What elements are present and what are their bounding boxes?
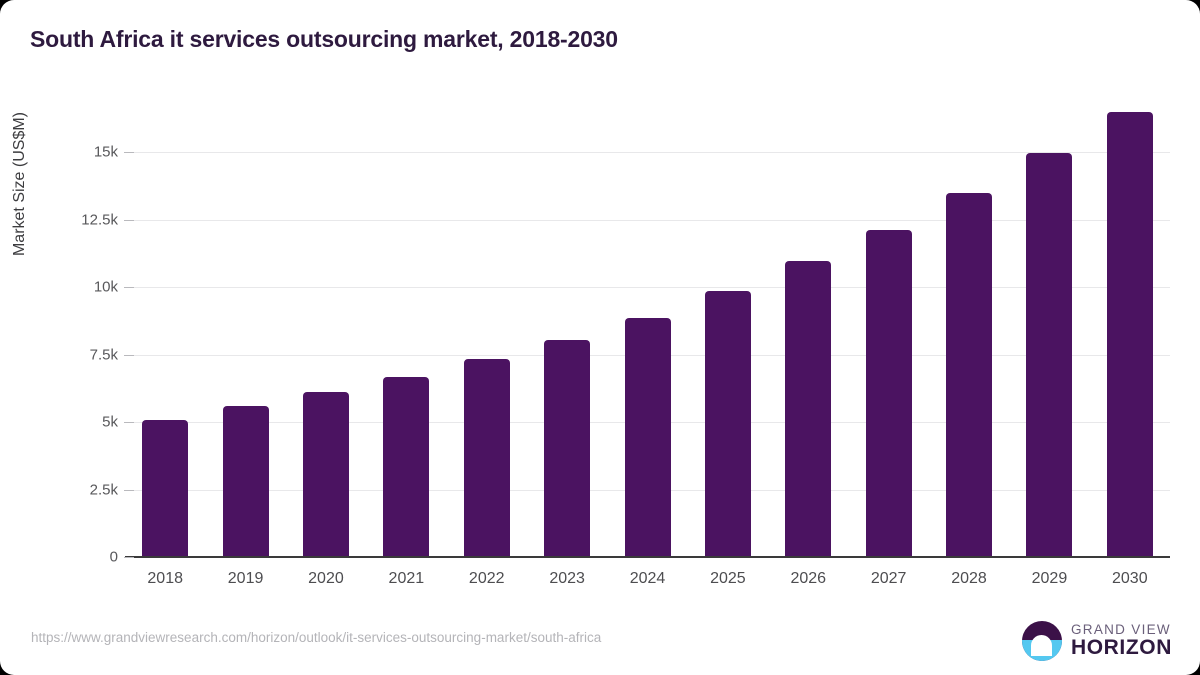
logo-product-name: HORIZON: [1071, 637, 1172, 659]
chart-card: South Africa it services outsourcing mar…: [0, 0, 1200, 675]
x-tick-label-2029: 2029: [1032, 570, 1068, 588]
logo-text: GRAND VIEW HORIZON: [1071, 623, 1172, 659]
source-url[interactable]: https://www.grandviewresearch.com/horizo…: [31, 630, 601, 645]
horizon-circle-icon: [1022, 621, 1062, 661]
x-tick-label-2020: 2020: [308, 570, 344, 588]
logo-line-upper: [1033, 646, 1051, 649]
x-axis-ticks: 2018201920202021202220232024202520262027…: [0, 0, 1200, 675]
x-tick-label-2018: 2018: [147, 570, 183, 588]
x-tick-label-2022: 2022: [469, 570, 505, 588]
x-tick-label-2028: 2028: [951, 570, 987, 588]
x-tick-label-2027: 2027: [871, 570, 907, 588]
x-tick-label-2030: 2030: [1112, 570, 1148, 588]
logo-brand-name: GRAND VIEW: [1071, 623, 1172, 637]
x-tick-label-2024: 2024: [630, 570, 666, 588]
x-tick-label-2023: 2023: [549, 570, 585, 588]
grand-view-horizon-logo: GRAND VIEW HORIZON: [1022, 619, 1172, 663]
x-tick-label-2021: 2021: [389, 570, 425, 588]
logo-line-lower: [1036, 651, 1047, 654]
x-tick-label-2026: 2026: [790, 570, 826, 588]
x-tick-label-2019: 2019: [228, 570, 264, 588]
x-tick-label-2025: 2025: [710, 570, 746, 588]
